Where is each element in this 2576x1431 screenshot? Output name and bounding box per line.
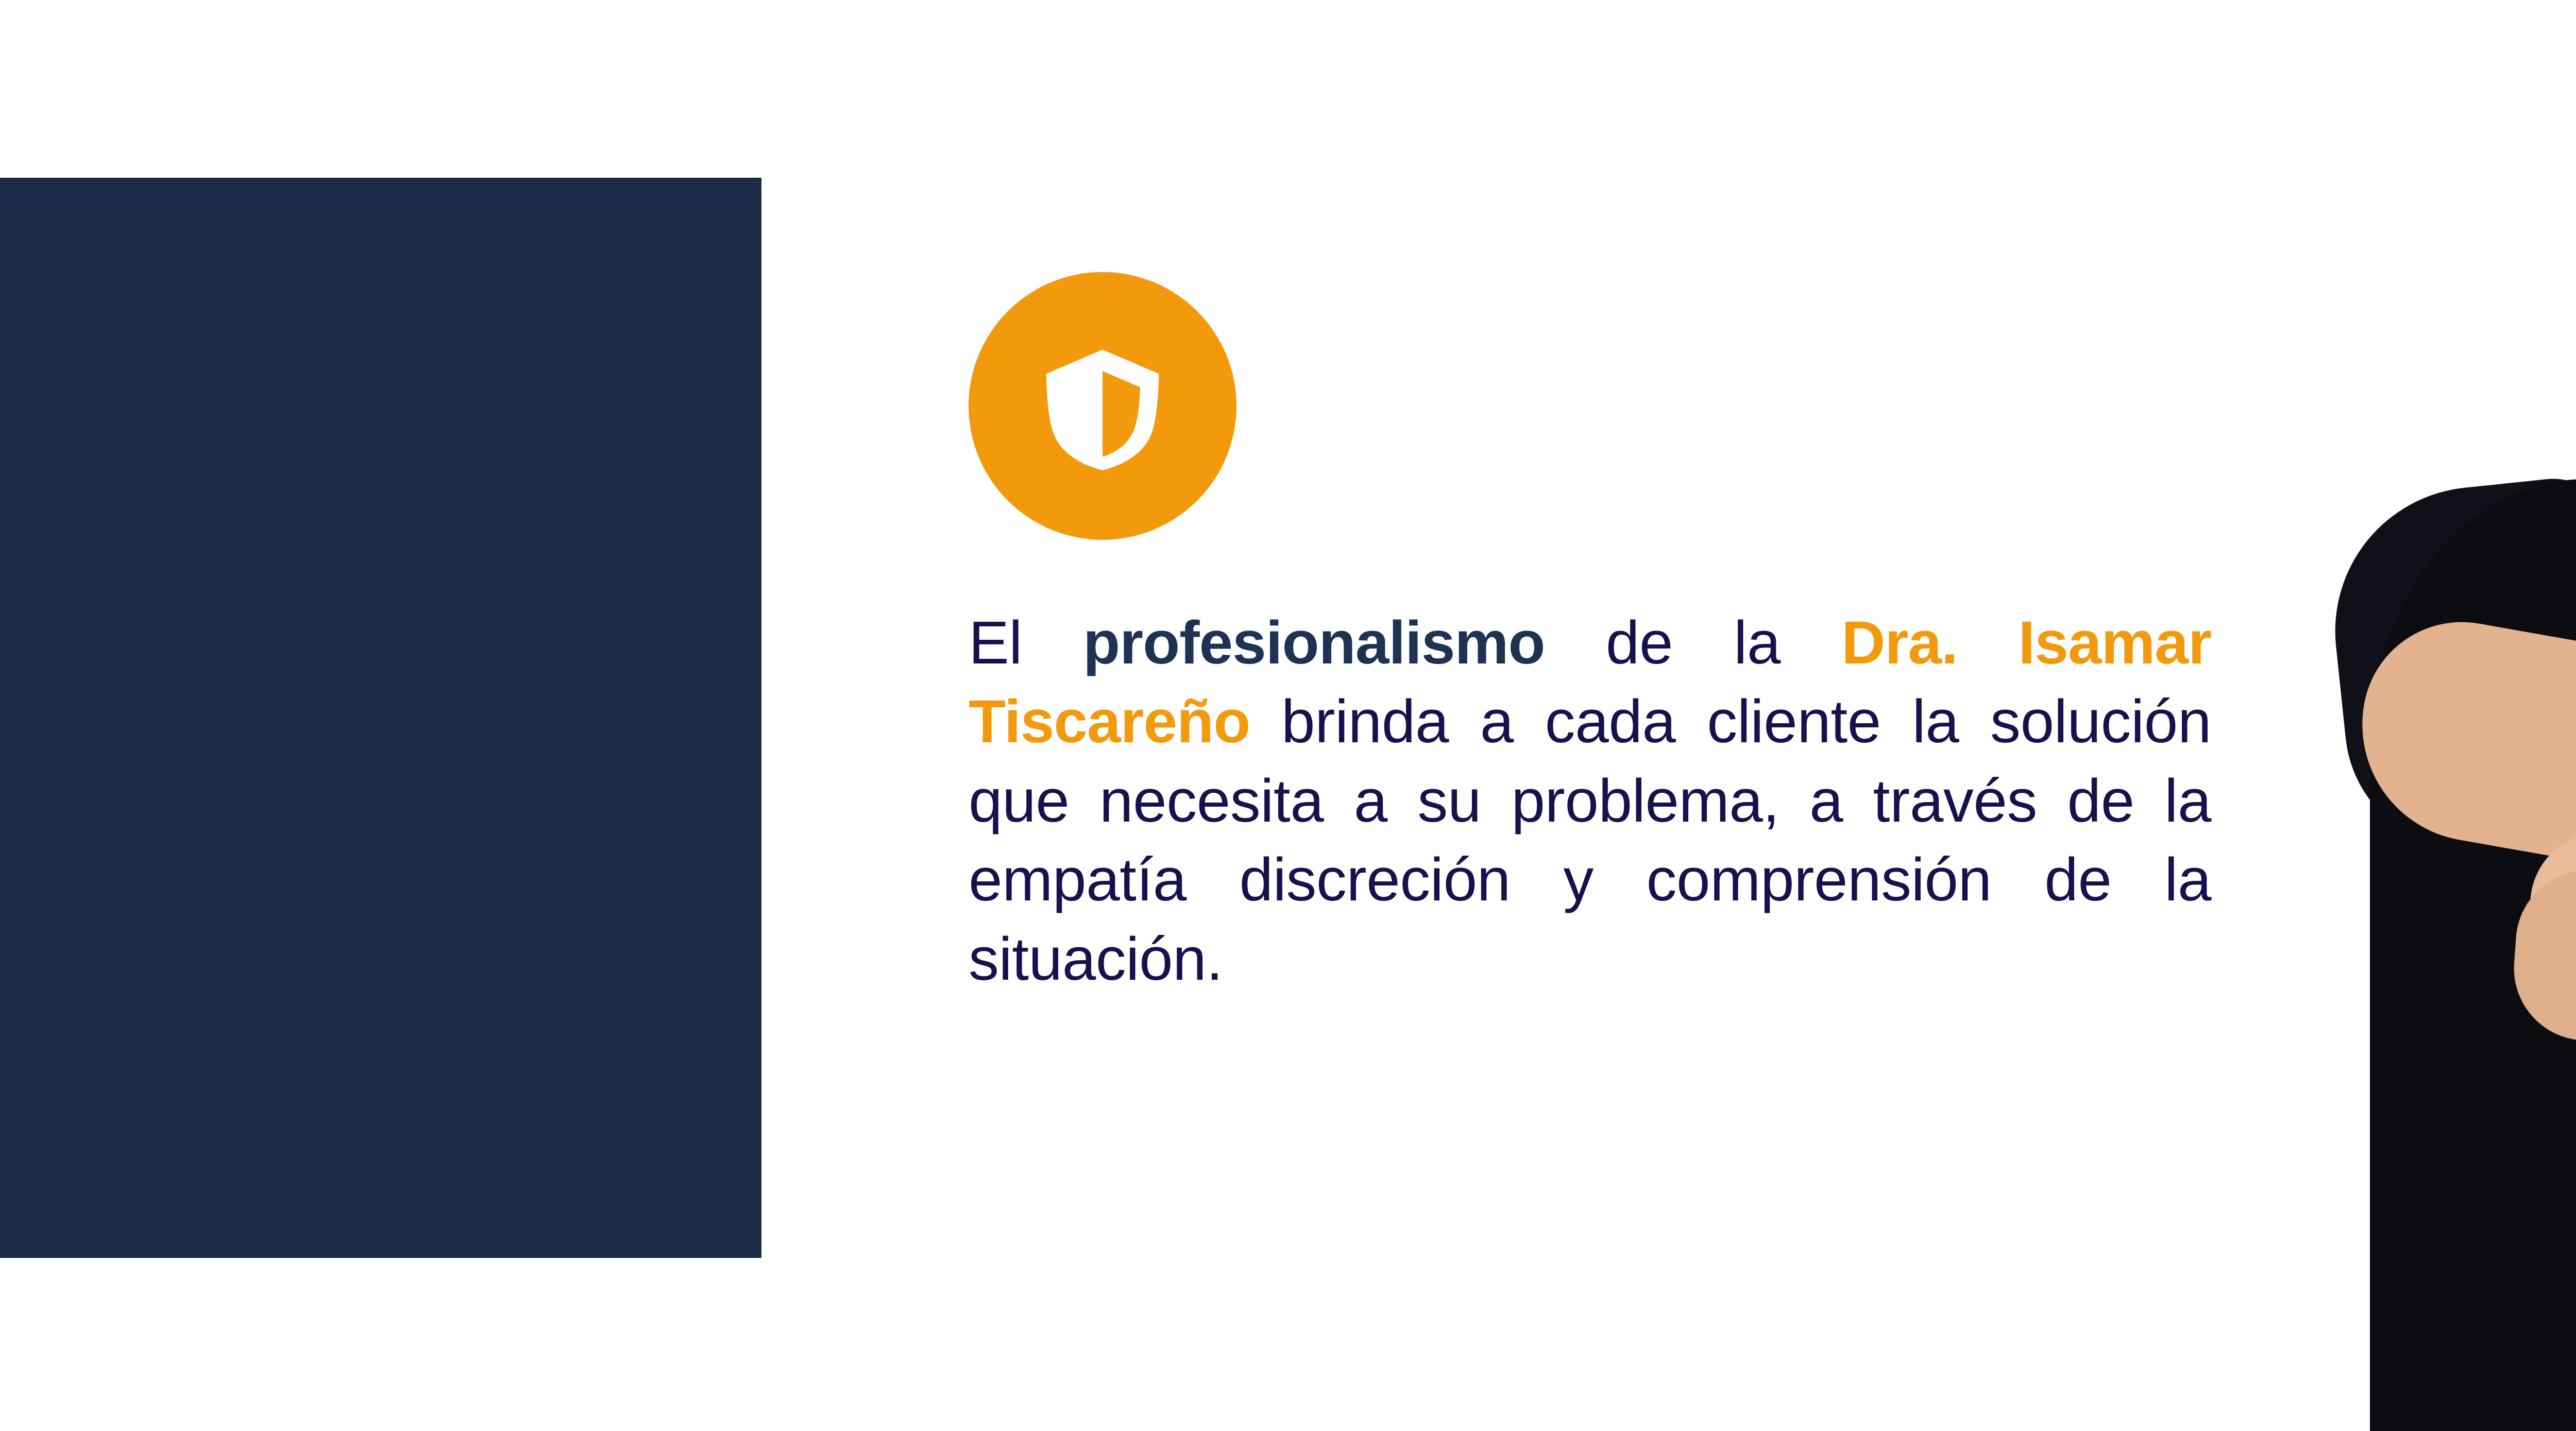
doctor-portrait bbox=[2262, 0, 2576, 1431]
copy-part-regular-1: El bbox=[969, 609, 1083, 677]
shield-icon bbox=[1036, 339, 1170, 473]
hero-paragraph: El profesionalismo de la Dra. Isamar Tis… bbox=[969, 604, 2211, 999]
shield-badge bbox=[969, 272, 1236, 540]
copy-highlight-profesionalismo: profesionalismo bbox=[1083, 609, 1545, 677]
left-navy-block bbox=[0, 178, 761, 1258]
hero-banner: El profesionalismo de la Dra. Isamar Tis… bbox=[0, 0, 2576, 1431]
copy-part-regular-2: de la bbox=[1545, 609, 1842, 677]
